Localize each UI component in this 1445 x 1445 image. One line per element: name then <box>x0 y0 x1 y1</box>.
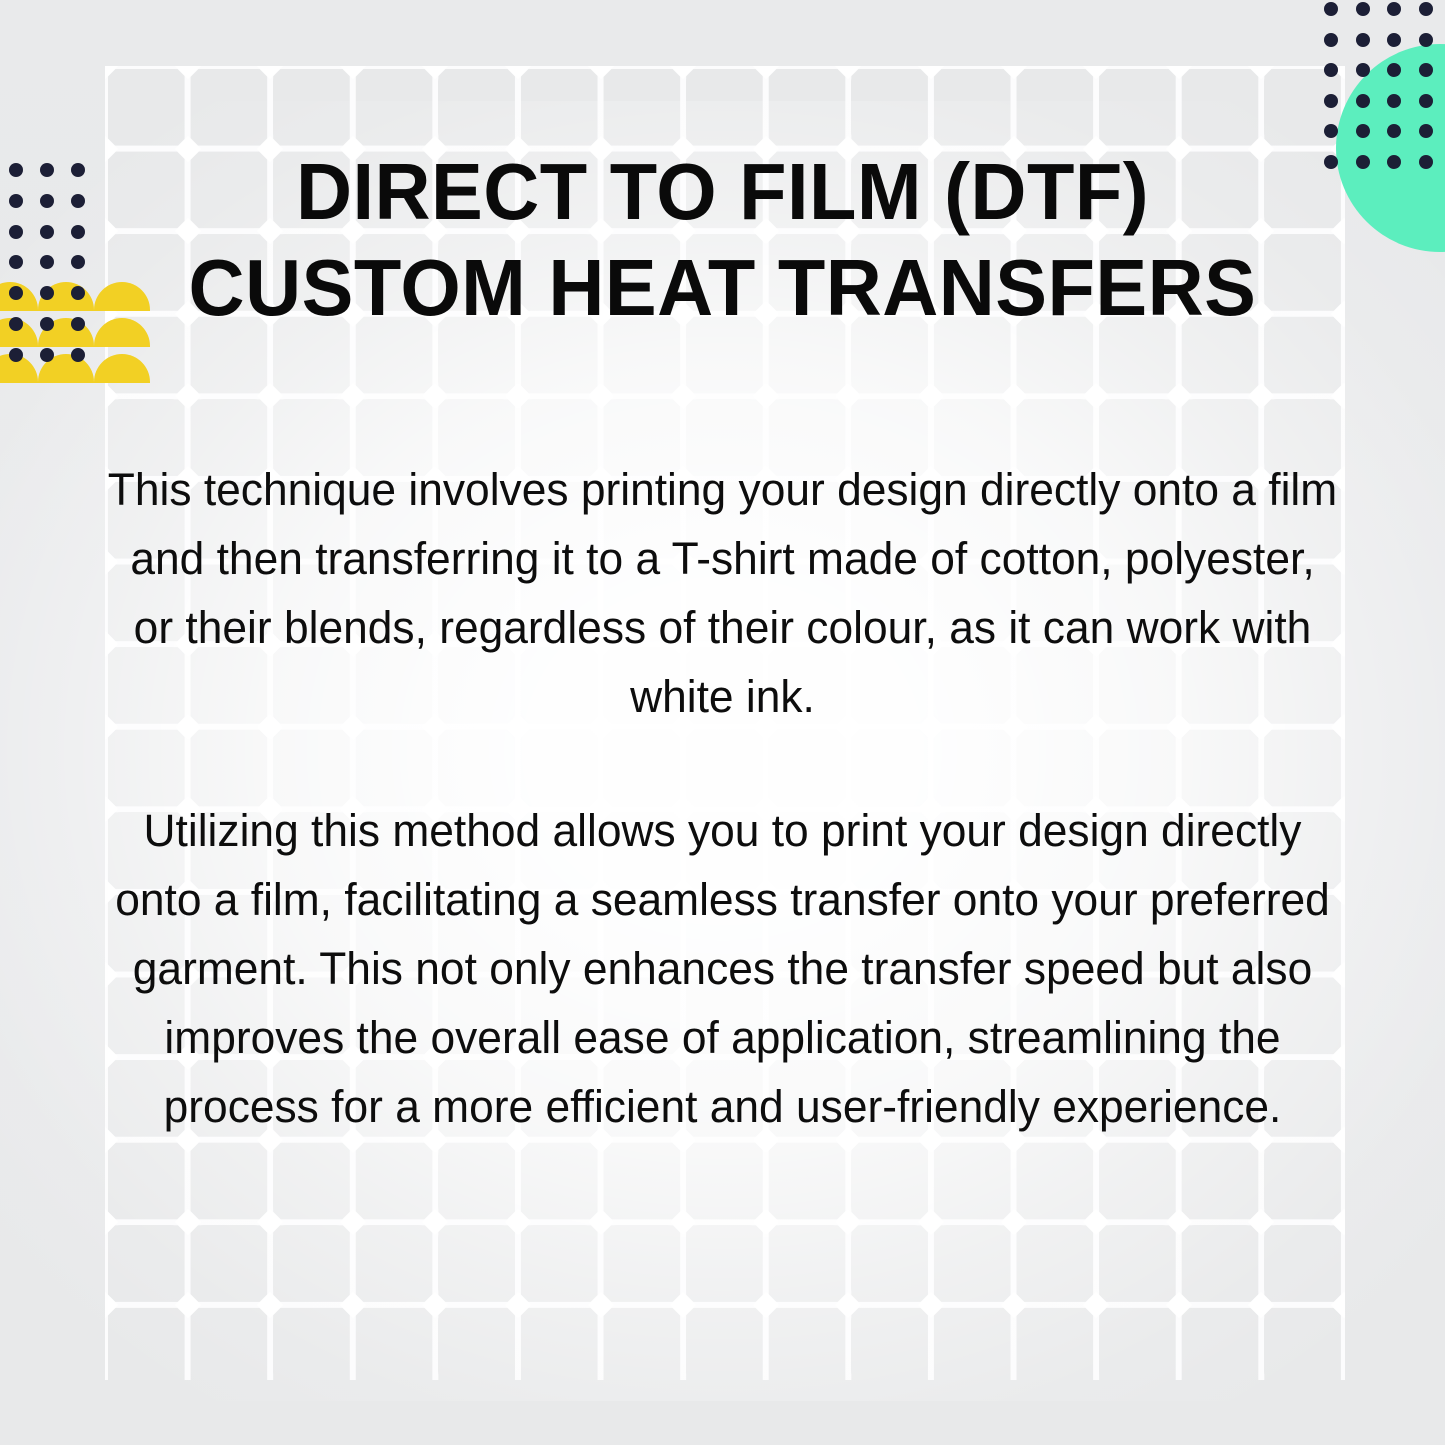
page-title: DIRECT TO FILM (DTF) CUSTOM HEAT TRANSFE… <box>22 144 1424 336</box>
page-title-line-2: CUSTOM HEAT TRANSFERS <box>22 240 1424 336</box>
page-title-line-1: DIRECT TO FILM (DTF) <box>22 144 1424 240</box>
body-paragraph-1: This technique involves printing your de… <box>105 455 1339 731</box>
content-layer: DIRECT TO FILM (DTF) CUSTOM HEAT TRANSFE… <box>0 0 1445 1445</box>
body-paragraph-2: Utilizing this method allows you to prin… <box>105 796 1339 1141</box>
poster-canvas: DIRECT TO FILM (DTF) CUSTOM HEAT TRANSFE… <box>0 0 1445 1445</box>
